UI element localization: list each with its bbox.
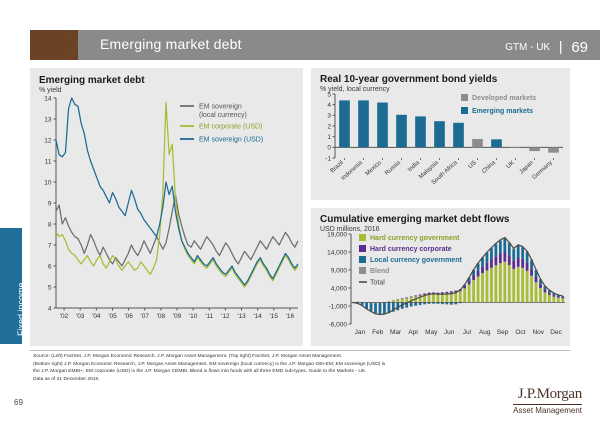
- svg-text:Mar: Mar: [390, 329, 402, 336]
- svg-text:Germany: Germany: [531, 160, 553, 181]
- svg-text:'05: '05: [108, 313, 117, 320]
- svg-text:EM sovereign: EM sovereign: [199, 104, 242, 111]
- logo-secondary-text: Asset Management: [513, 406, 582, 415]
- svg-text:'03: '03: [76, 313, 85, 320]
- svg-text:Emerging markets: Emerging markets: [472, 108, 533, 115]
- svg-text:4: 4: [327, 102, 331, 109]
- footer-page-number: 69: [14, 398, 23, 407]
- source-line-4: Data as of 31 December 2016.: [33, 376, 573, 384]
- panel-emd-flows: Cumulative emerging market debt flows US…: [311, 208, 570, 346]
- chart-real-10y-bond-yields: -1012345BrazilIndonesiaMexicoRussiaIndia…: [311, 90, 570, 200]
- svg-text:9: 9: [48, 200, 52, 207]
- svg-text:Jul: Jul: [463, 329, 472, 336]
- jpmorgan-logo: J.P.Morgan Asset Management: [513, 386, 582, 415]
- svg-text:May: May: [425, 329, 438, 336]
- header-page-number: 69: [571, 39, 588, 56]
- svg-text:7: 7: [48, 242, 52, 249]
- source-line-3: the J.P. Morgan EMBI+; EM corporate (USD…: [33, 368, 573, 376]
- svg-text:-1: -1: [325, 155, 331, 162]
- svg-text:8: 8: [48, 221, 52, 228]
- svg-text:14,000: 14,000: [327, 249, 347, 256]
- svg-text:0: 0: [327, 145, 331, 152]
- source-line-2: (Bottom right) J.P. Morgan Economic Rese…: [33, 361, 573, 369]
- svg-text:13: 13: [44, 116, 52, 123]
- svg-text:Mexico: Mexico: [365, 160, 384, 178]
- svg-text:Russia: Russia: [384, 160, 402, 177]
- svg-text:12: 12: [44, 137, 52, 144]
- svg-text:9,000: 9,000: [331, 267, 348, 274]
- svg-text:4,000: 4,000: [331, 285, 348, 292]
- svg-text:'07: '07: [140, 313, 149, 320]
- svg-text:Total: Total: [370, 280, 385, 287]
- svg-text:'14: '14: [253, 313, 262, 320]
- svg-text:Feb: Feb: [372, 329, 384, 336]
- svg-text:'15: '15: [270, 313, 279, 320]
- sidebar-tab-fixed-income[interactable]: Fixed income: [0, 228, 22, 344]
- svg-text:19,000: 19,000: [327, 231, 347, 238]
- svg-text:'13: '13: [237, 313, 246, 320]
- header-meta: GTM - UK | 69: [505, 38, 588, 56]
- svg-text:Sep: Sep: [497, 329, 509, 336]
- svg-text:Apr: Apr: [408, 329, 419, 336]
- svg-text:'02: '02: [60, 313, 69, 320]
- svg-text:Blend: Blend: [370, 268, 389, 275]
- chart-cumulative-emd-flows: -6,000-1,0004,0009,00014,00019,000JanFeb…: [311, 230, 570, 346]
- svg-text:Hard currency government: Hard currency government: [370, 235, 460, 242]
- source-footnote: Source: (Left) FactSet, J.P. Morgan Econ…: [33, 353, 573, 383]
- svg-text:China: China: [481, 160, 497, 175]
- svg-text:Nov: Nov: [532, 329, 544, 336]
- chart-emerging-market-debt: 4567891011121314'02'03'04'05'06'07'08'09…: [30, 92, 303, 346]
- logo-primary-text: J.P.Morgan: [513, 386, 582, 403]
- svg-text:3: 3: [327, 113, 331, 120]
- svg-text:5: 5: [48, 284, 52, 291]
- header-guide-label: GTM - UK: [505, 42, 550, 53]
- svg-text:India: India: [407, 160, 421, 174]
- svg-text:Aug: Aug: [479, 329, 491, 336]
- svg-text:11: 11: [45, 158, 52, 165]
- svg-text:'09: '09: [173, 313, 182, 320]
- svg-text:'04: '04: [92, 313, 101, 320]
- svg-text:Local currency government: Local currency government: [370, 257, 462, 264]
- page-header: Emerging market debt GTM - UK | 69: [30, 30, 600, 60]
- svg-text:EM sovereign (USD): EM sovereign (USD): [199, 137, 263, 144]
- page-title: Emerging market debt: [100, 36, 242, 52]
- svg-text:Japan: Japan: [519, 160, 535, 175]
- svg-text:1: 1: [327, 134, 331, 141]
- svg-text:Dec: Dec: [550, 329, 562, 336]
- svg-text:EM corporate (USD): EM corporate (USD): [199, 124, 262, 131]
- svg-text:5: 5: [327, 91, 331, 98]
- svg-text:US: US: [468, 160, 478, 170]
- source-line-1: Source: (Left) FactSet, J.P. Morgan Econ…: [33, 353, 573, 361]
- svg-text:Indonesia: Indonesia: [340, 160, 364, 182]
- svg-text:Developed markets: Developed markets: [472, 95, 536, 102]
- svg-text:4: 4: [48, 305, 52, 312]
- logo-divider: [513, 404, 582, 405]
- svg-text:Brazil: Brazil: [330, 160, 345, 175]
- svg-text:-6,000: -6,000: [329, 321, 348, 328]
- svg-text:'11: '11: [205, 313, 213, 320]
- svg-text:'06: '06: [124, 313, 133, 320]
- svg-text:14: 14: [44, 95, 52, 102]
- header-separator: |: [559, 38, 563, 54]
- svg-text:'12: '12: [221, 313, 230, 320]
- footer-divider: [30, 350, 570, 351]
- svg-text:'10: '10: [189, 313, 198, 320]
- svg-text:Oct: Oct: [515, 329, 525, 336]
- chart-title-emd: Emerging market debt: [39, 75, 145, 86]
- panel-emerging-market-debt: Emerging market debt % yield 45678910111…: [30, 68, 303, 346]
- svg-text:'08: '08: [157, 313, 166, 320]
- svg-text:-1,000: -1,000: [329, 303, 348, 310]
- panel-real-bond-yields: Real 10-year government bond yields % yi…: [311, 68, 570, 200]
- svg-text:Hard currency corporate: Hard currency corporate: [370, 246, 452, 253]
- svg-text:10: 10: [44, 179, 52, 186]
- svg-text:Jan: Jan: [355, 329, 366, 336]
- svg-text:2: 2: [327, 123, 331, 130]
- svg-text:'16: '16: [286, 313, 295, 320]
- chart-title-flows: Cumulative emerging market debt flows: [320, 214, 510, 225]
- chart-title-yields: Real 10-year government bond yields: [320, 74, 497, 85]
- svg-text:6: 6: [48, 263, 52, 270]
- header-brown-block: [30, 30, 64, 60]
- svg-text:(local currency): (local currency): [199, 112, 247, 119]
- sidebar-tab-label: Fixed income: [16, 282, 26, 336]
- svg-text:UK: UK: [506, 160, 516, 170]
- svg-text:Jun: Jun: [444, 329, 455, 336]
- header-arrow-icon: [64, 30, 78, 60]
